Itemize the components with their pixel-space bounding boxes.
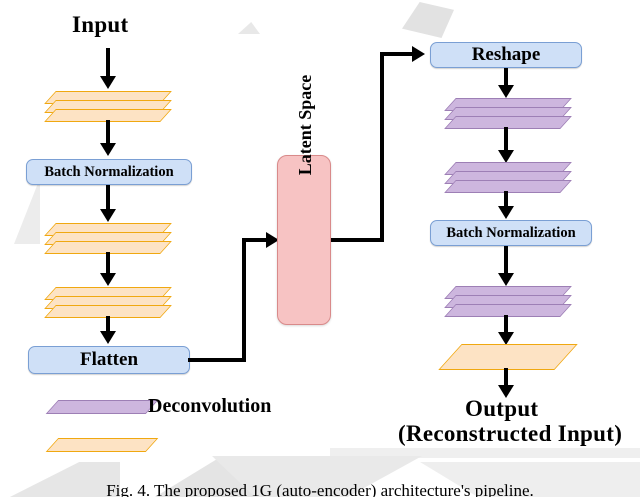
- arrowhead-right: [412, 46, 425, 62]
- arrowhead-down: [100, 143, 116, 156]
- reconstructed-input-label: (Reconstructed Input): [398, 421, 622, 447]
- watermark-shape: [238, 22, 260, 34]
- watermark-shape: [402, 2, 454, 38]
- connector-latent-up: [380, 52, 384, 242]
- deconv-sheet: [444, 180, 572, 193]
- deconv-sheet: [444, 304, 572, 317]
- arrowhead-down: [498, 85, 514, 98]
- arrowhead-down: [100, 209, 116, 222]
- flatten-box[interactable]: Flatten: [28, 346, 190, 374]
- conv-layer-stack-2: [50, 223, 166, 254]
- latent-space-box[interactable]: Latent Space: [277, 155, 331, 325]
- deconv-layer-stack-3: [450, 286, 566, 317]
- figure-canvas: Input Batch Normalization Flatten Latent…: [0, 0, 640, 497]
- reshape-box[interactable]: Reshape: [430, 42, 582, 68]
- legend-label-deconvolution: Deconvolution: [148, 395, 271, 418]
- watermark-shape: [330, 448, 640, 458]
- batch-normalization-box-encoder[interactable]: Batch Normalization: [26, 159, 192, 185]
- figure-caption: Fig. 4. The proposed 1G (auto-encoder) a…: [0, 481, 640, 497]
- conv-layer-stack-1: [50, 91, 166, 122]
- connector-into-reshape: [380, 52, 416, 56]
- output-label: Output: [465, 396, 538, 422]
- latent-space-label: Latent Space: [278, 40, 332, 210]
- deconv-sheet: [444, 116, 572, 129]
- input-label: Input: [72, 12, 128, 38]
- arrowhead-down: [100, 273, 116, 286]
- output-conv-layer: [450, 344, 566, 370]
- conv-sheet: [438, 344, 577, 370]
- batch-normalization-box-decoder[interactable]: Batch Normalization: [430, 220, 592, 246]
- legend-item-deconvolution: Deconvolution: [44, 400, 344, 420]
- deconv-layer-stack-1: [450, 98, 566, 129]
- connector-bn-to-conv2: [106, 185, 110, 212]
- watermark-shape: [14, 178, 40, 244]
- connector-latent-right: [331, 238, 384, 242]
- arrowhead-down: [100, 331, 116, 344]
- connector-flatten-right: [188, 358, 246, 362]
- arrowhead-down: [498, 206, 514, 219]
- arrowhead-down: [498, 273, 514, 286]
- legend-item-convolution: [44, 438, 344, 458]
- conv-layer-stack-3: [50, 287, 166, 318]
- deconv-layer-stack-2: [450, 162, 566, 193]
- arrowhead-down: [100, 76, 116, 89]
- legend-swatch-deconvolution: [46, 400, 159, 414]
- connector-flatten-up: [242, 240, 246, 360]
- legend-swatch-convolution: [46, 438, 159, 452]
